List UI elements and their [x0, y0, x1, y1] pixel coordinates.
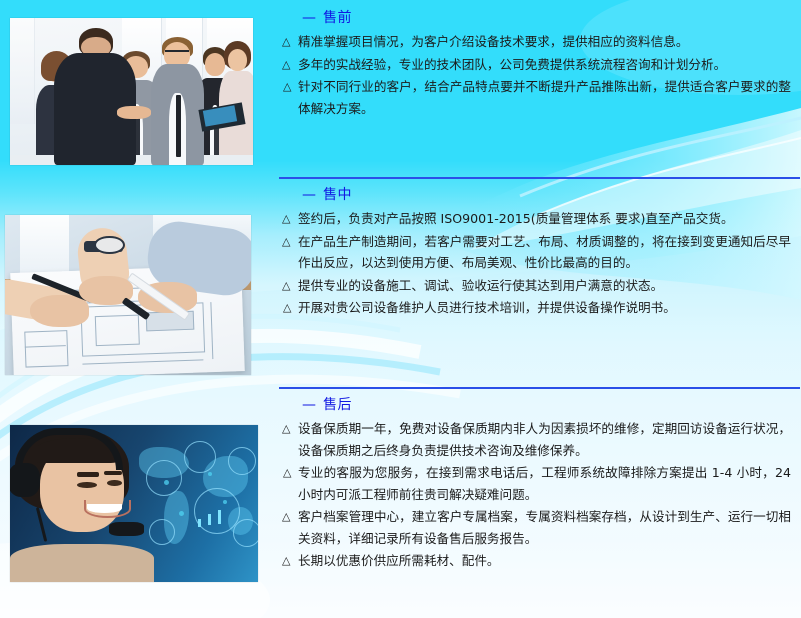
- title-dash: —: [302, 8, 316, 28]
- triangle-bullet-icon: △: [283, 76, 291, 98]
- list-item-text: 长期以优惠价供应所需耗材、配件。: [298, 553, 500, 568]
- list-item-text: 签约后，负责对产品按照 ISO9001-2015(质量管理体系 要求)直至产品交…: [298, 211, 734, 226]
- section-presale: —售前 △ 精准掌握项目情况，为客户介绍设备技术要求，提供相应的资料信息。 △ …: [279, 8, 801, 120]
- title-dash: —: [302, 395, 316, 415]
- list-item-text: 提供专业的设备施工、调试、验收运行使其达到用户满意的状态。: [298, 278, 663, 293]
- list-item: △ 专业的客服为您服务，在接到需求电话后，工程师系统故障排除方案提出 1-4 小…: [279, 462, 801, 505]
- section-divider: [279, 177, 800, 179]
- title-dash: —: [302, 185, 316, 205]
- photo-blueprint-discussion: [5, 215, 251, 375]
- list-item-text: 精准掌握项目情况，为客户介绍设备技术要求，提供相应的资料信息。: [298, 34, 688, 49]
- service-sections: —售前 △ 精准掌握项目情况，为客户介绍设备技术要求，提供相应的资料信息。 △ …: [279, 0, 801, 618]
- list-item: △ 在产品生产制造期间，若客户需要对工艺、布局、材质调整的，将在接到变更通知后尽…: [279, 231, 801, 274]
- list-item-text: 设备保质期一年，免费对设备保质期内非人为因素损坏的维修，定期回访设备运行状况，设…: [298, 421, 791, 458]
- list-item-text: 针对不同行业的客户，结合产品特点要并不断提升产品推陈出新，提供适合客户要求的整体…: [298, 79, 791, 116]
- section-title-text: 售中: [323, 187, 352, 203]
- triangle-bullet-icon: △: [282, 550, 290, 572]
- photo-business-meeting: [10, 18, 253, 165]
- section-title-insale: —售中: [279, 185, 801, 205]
- list-item: △ 提供专业的设备施工、调试、验收运行使其达到用户满意的状态。: [279, 275, 801, 297]
- triangle-bullet-icon: △: [282, 231, 290, 253]
- section-title-text: 售前: [323, 10, 352, 26]
- bullet-list-aftersale: △ 设备保质期一年，免费对设备保质期内非人为因素损坏的维修，定期回访设备运行状况…: [279, 418, 801, 572]
- section-title-aftersale: —售后: [279, 395, 801, 415]
- triangle-bullet-icon: △: [282, 54, 290, 76]
- photo-customer-support: [10, 425, 258, 582]
- list-item: △ 长期以优惠价供应所需耗材、配件。: [279, 550, 801, 572]
- bullet-list-presale: △ 精准掌握项目情况，为客户介绍设备技术要求，提供相应的资料信息。 △ 多年的实…: [279, 31, 801, 119]
- list-item: △ 多年的实战经验，专业的技术团队，公司免费提供系统流程咨询和计划分析。: [279, 54, 801, 76]
- section-divider: [279, 387, 800, 389]
- list-item-text: 在产品生产制造期间，若客户需要对工艺、布局、材质调整的，将在接到变更通知后尽早作…: [298, 234, 791, 271]
- list-item: △ 开展对贵公司设备维护人员进行技术培训，并提供设备操作说明书。: [279, 297, 801, 319]
- section-aftersale: —售后 △ 设备保质期一年，免费对设备保质期内非人为因素损坏的维修，定期回访设备…: [279, 387, 801, 573]
- list-item-text: 开展对贵公司设备维护人员进行技术培训，并提供设备操作说明书。: [298, 300, 676, 315]
- section-title-text: 售后: [323, 397, 352, 413]
- list-item-text: 专业的客服为您服务，在接到需求电话后，工程师系统故障排除方案提出 1-4 小时，…: [298, 465, 791, 502]
- list-item: △ 精准掌握项目情况，为客户介绍设备技术要求，提供相应的资料信息。: [279, 31, 801, 53]
- list-item: △ 客户档案管理中心，建立客户专属档案，专属资料档案存档，从设计到生产、运行一切…: [279, 506, 801, 549]
- list-item-text: 多年的实战经验，专业的技术团队，公司免费提供系统流程咨询和计划分析。: [298, 57, 726, 72]
- triangle-bullet-icon: △: [282, 275, 290, 297]
- slide-canvas: —售前 △ 精准掌握项目情况，为客户介绍设备技术要求，提供相应的资料信息。 △ …: [0, 0, 801, 618]
- triangle-bullet-icon: △: [282, 31, 290, 53]
- section-title-presale: —售前: [279, 8, 801, 28]
- triangle-bullet-icon: △: [282, 418, 290, 440]
- bullet-list-insale: △ 签约后，负责对产品按照 ISO9001-2015(质量管理体系 要求)直至产…: [279, 208, 801, 319]
- list-item: △ 设备保质期一年，免费对设备保质期内非人为因素损坏的维修，定期回访设备运行状况…: [279, 418, 801, 461]
- list-item: △ 针对不同行业的客户，结合产品特点要并不断提升产品推陈出新，提供适合客户要求的…: [279, 76, 801, 119]
- list-item-text: 客户档案管理中心，建立客户专属档案，专属资料档案存档，从设计到生产、运行一切相关…: [298, 509, 791, 546]
- triangle-bullet-icon: △: [283, 297, 291, 319]
- triangle-bullet-icon: △: [282, 506, 290, 528]
- section-insale: —售中 △ 签约后，负责对产品按照 ISO9001-2015(质量管理体系 要求…: [279, 177, 801, 320]
- triangle-bullet-icon: △: [282, 208, 290, 230]
- triangle-bullet-icon: △: [283, 462, 291, 484]
- list-item: △ 签约后，负责对产品按照 ISO9001-2015(质量管理体系 要求)直至产…: [279, 208, 801, 230]
